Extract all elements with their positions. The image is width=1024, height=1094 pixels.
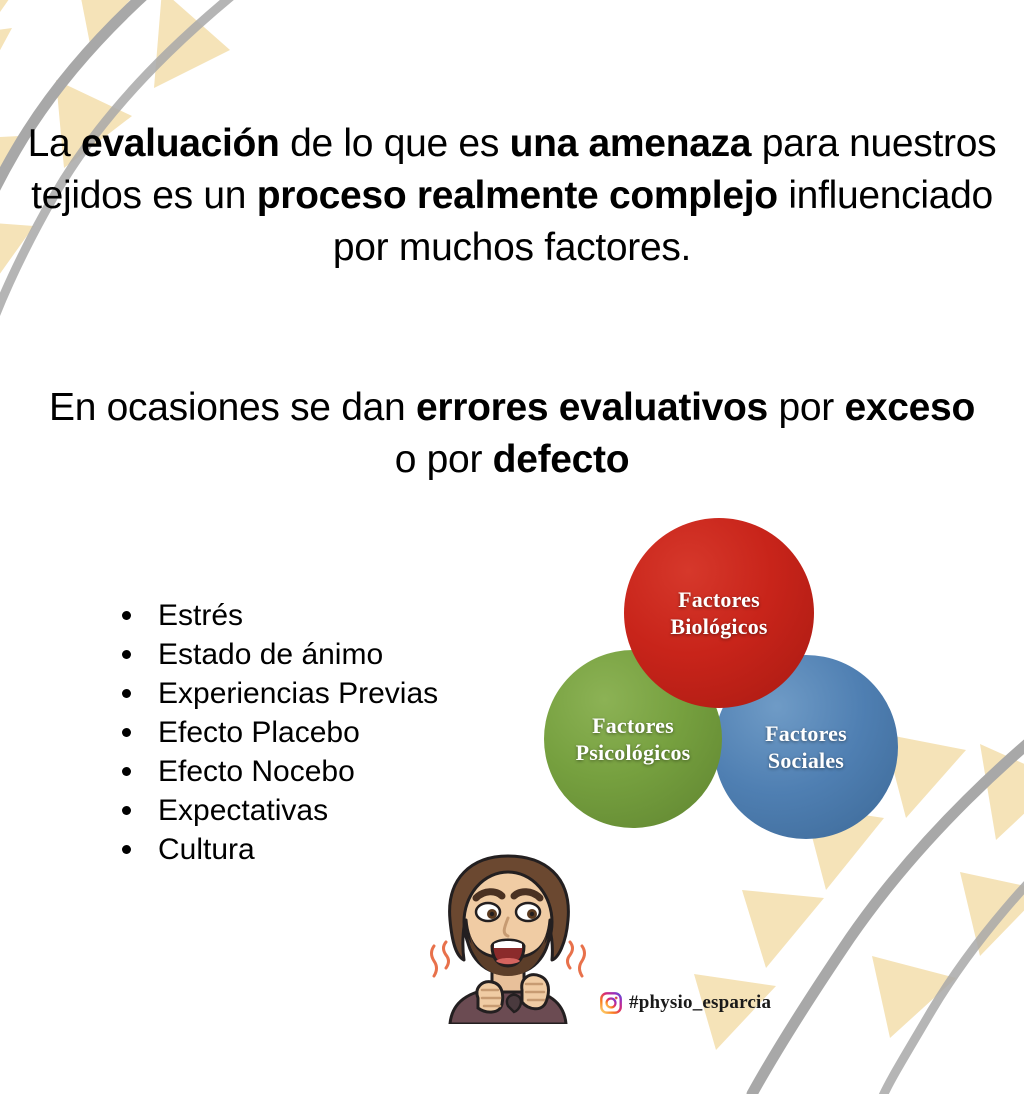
errors-paragraph-segment-0: En ocasiones se dan <box>49 386 416 429</box>
venn-circle-biologicos: Factores Biológicos <box>624 518 814 708</box>
instagram-handle-text: #physio_esparcia <box>629 992 771 1014</box>
influencing-factors-list: EstrésEstado de ánimoExperiencias Previa… <box>96 596 438 869</box>
list-item: Estado de ánimo <box>122 635 438 674</box>
list-item-label: Efecto Nocebo <box>158 755 355 788</box>
bullet-dot-icon <box>122 728 131 737</box>
venn-label-sociales-line1: Factores <box>765 720 847 747</box>
list-item-label: Estado de ánimo <box>158 638 383 671</box>
venn-label-psicologicos-line1: Factores <box>576 712 691 739</box>
list-item: Experiencias Previas <box>122 674 438 713</box>
list-item: Cultura <box>122 830 438 869</box>
list-item: Efecto Placebo <box>122 713 438 752</box>
list-item-label: Expectativas <box>158 794 328 827</box>
biopsychosocial-venn-diagram: Factores Psicológicos Factores Sociales … <box>520 500 920 845</box>
intro-paragraph-segment-3: una amenaza <box>510 122 752 165</box>
intro-paragraph-segment-5: proceso realmente complejo <box>257 174 778 217</box>
list-item-label: Cultura <box>158 833 255 866</box>
venn-label-psicologicos-line2: Psicológicos <box>576 739 691 766</box>
intro-paragraph-segment-0: La <box>28 122 81 165</box>
bullet-dot-icon <box>122 650 131 659</box>
list-item-label: Efecto Placebo <box>158 716 360 749</box>
intro-paragraph-segment-2: de lo que es <box>280 122 510 165</box>
bullet-dot-icon <box>122 845 131 854</box>
errors-paragraph-segment-4: o por <box>395 438 493 481</box>
list-item-label: Experiencias Previas <box>158 677 438 710</box>
instagram-handle[interactable]: #physio_esparcia <box>600 992 771 1014</box>
venn-label-sociales-line2: Sociales <box>765 747 847 774</box>
intro-paragraph-segment-1: evaluación <box>81 122 280 165</box>
instagram-icon <box>600 992 622 1014</box>
intro-paragraph: La evaluación de lo que es una amenaza p… <box>0 118 1024 274</box>
list-item: Efecto Nocebo <box>122 752 438 791</box>
errors-paragraph-segment-1: errores evaluativos <box>416 386 768 429</box>
list-item-label: Estrés <box>158 599 243 632</box>
venn-label-biologicos-line1: Factores <box>670 586 767 613</box>
bullet-dot-icon <box>122 806 131 815</box>
errors-paragraph-segment-5: defecto <box>493 438 630 481</box>
venn-label-biologicos-line2: Biológicos <box>670 613 767 640</box>
bullet-dot-icon <box>122 767 131 776</box>
list-item: Estrés <box>122 596 438 635</box>
list-item: Expectativas <box>122 791 438 830</box>
worried-bearded-man-bitmoji <box>408 848 608 1024</box>
errors-paragraph-segment-2: por <box>768 386 845 429</box>
bullet-dot-icon <box>122 611 131 620</box>
errors-paragraph: En ocasiones se dan errores evaluativos … <box>0 382 1024 486</box>
bullet-dot-icon <box>122 689 131 698</box>
errors-paragraph-segment-3: exceso <box>845 386 975 429</box>
